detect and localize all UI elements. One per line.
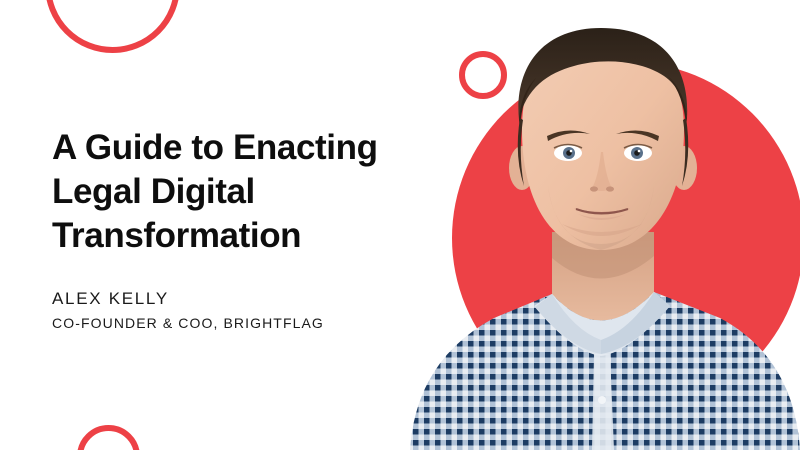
- title-line-1: A Guide to Enacting: [52, 126, 452, 170]
- title-line-3: Transformation: [52, 214, 452, 258]
- speaker-role: CO-FOUNDER & COO, BRIGHTFLAG: [52, 314, 324, 332]
- circle-outline-icon: [77, 425, 140, 450]
- slide-title: A Guide to Enacting Legal Digital Transf…: [52, 126, 452, 258]
- circle-outline-icon: [45, 0, 180, 53]
- speaker-credit: ALEX KELLY CO-FOUNDER & COO, BRIGHTFLAG: [52, 288, 324, 332]
- speaker-name: ALEX KELLY: [52, 288, 324, 310]
- title-line-2: Legal Digital: [52, 170, 452, 214]
- presentation-slide: A Guide to Enacting Legal Digital Transf…: [0, 0, 800, 450]
- speaker-portrait-photo: [402, 0, 800, 450]
